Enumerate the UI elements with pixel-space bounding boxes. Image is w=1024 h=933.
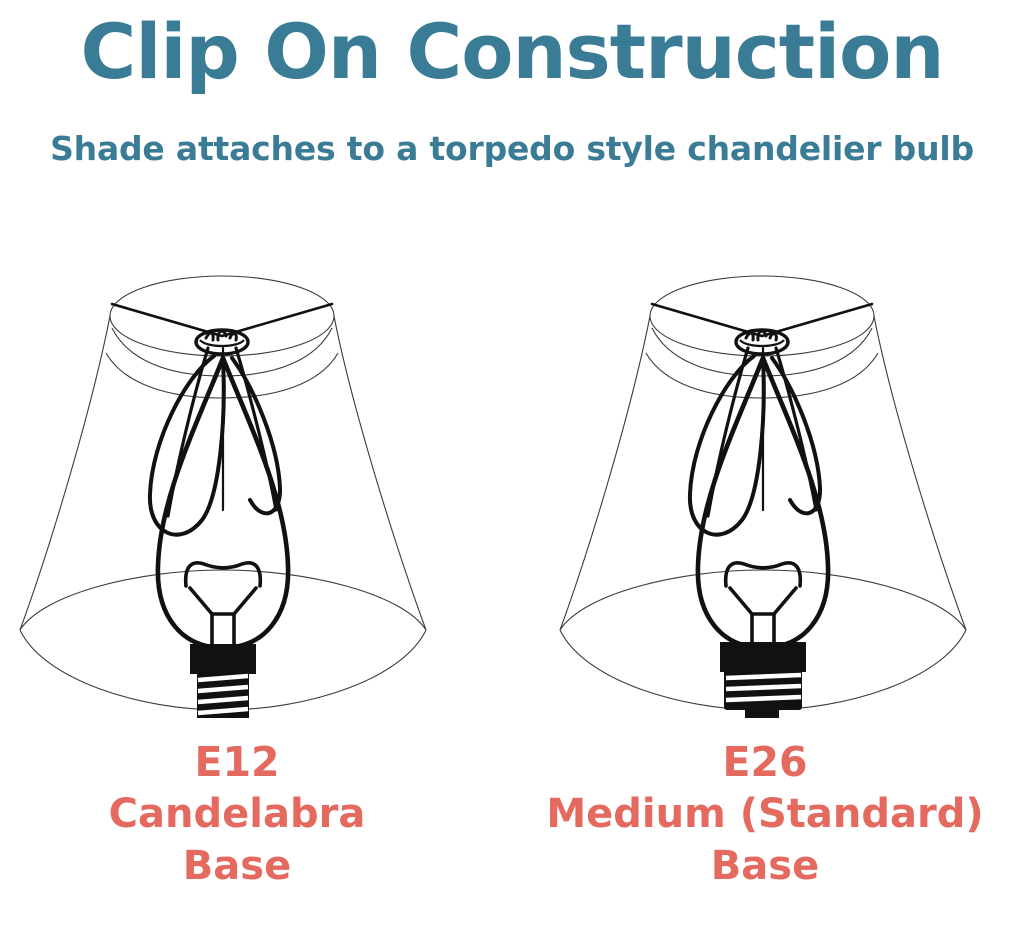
poster-canvas: Clip On Construction Shade attaches to a…: [0, 0, 1024, 933]
page-title: Clip On Construction: [0, 8, 1024, 96]
caption-e26-line-3: Base: [530, 840, 1000, 892]
figure-e12: [0, 248, 470, 718]
bulb-base-e12: [190, 644, 256, 718]
lamp-shade-illustration-e12: [0, 248, 470, 718]
bulb-base-e26: [720, 642, 806, 718]
caption-e26: E26 Medium (Standard) Base: [530, 736, 1000, 892]
caption-e26-line-2: Medium (Standard): [530, 788, 1000, 840]
caption-e12-line-1: E12: [2, 736, 472, 788]
page-subtitle: Shade attaches to a torpedo style chande…: [0, 128, 1024, 170]
caption-e12: E12 Candelabra Base: [2, 736, 472, 892]
figure-e26: [540, 248, 1010, 718]
caption-e12-line-2: Candelabra: [2, 788, 472, 840]
caption-e12-line-3: Base: [2, 840, 472, 892]
caption-e26-line-1: E26: [530, 736, 1000, 788]
lamp-shade-illustration-e26: [540, 248, 1010, 718]
